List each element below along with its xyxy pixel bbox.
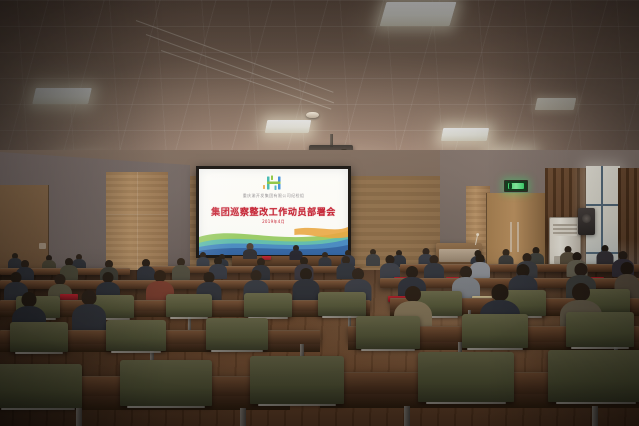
desk-leg xyxy=(592,406,598,426)
audience-chair[interactable] xyxy=(356,316,420,349)
audience-member xyxy=(292,268,319,301)
slide-title: 集团巡察整改工作动员部署会 xyxy=(211,205,336,218)
audience-chair-foreground[interactable] xyxy=(548,350,639,402)
projection-screen: 重庆渝开发集团有限公司纪检组 集团巡察整改工作动员部署会 2019年4月 xyxy=(196,166,351,258)
presidium-speaker xyxy=(243,243,257,259)
person-body xyxy=(424,263,444,279)
audience-member xyxy=(596,245,613,265)
door-push-bar[interactable] xyxy=(510,222,512,252)
person-body xyxy=(366,254,380,266)
audience-chair-foreground[interactable] xyxy=(250,356,344,404)
desk-leg xyxy=(404,406,410,426)
speaker-cone-icon xyxy=(582,214,591,223)
audience-chair-foreground[interactable] xyxy=(0,364,82,408)
person-body xyxy=(72,304,106,332)
ceiling-shading xyxy=(0,0,639,165)
person-body xyxy=(596,251,613,265)
audience-chair[interactable] xyxy=(462,314,528,348)
person-head xyxy=(492,284,509,301)
conference-room-photo: 重庆渝开发集团有限公司纪检组 集团巡察整改工作动员部署会 2019年4月 xyxy=(0,0,639,426)
smoke-detector-icon xyxy=(306,112,319,118)
audience-chair[interactable] xyxy=(10,322,68,352)
wall-speaker xyxy=(578,208,595,235)
audience-chair-foreground[interactable] xyxy=(120,360,212,406)
running-man-icon xyxy=(509,183,512,189)
presentation-slide: 重庆渝开发集团有限公司纪检组 集团巡察整改工作动员部署会 2019年4月 xyxy=(199,169,348,255)
suspended-tile-ceiling xyxy=(0,0,639,165)
light-switch-plate[interactable] xyxy=(39,243,46,249)
audience-member xyxy=(72,290,106,332)
audience-chair[interactable] xyxy=(166,294,212,317)
audience-chair[interactable] xyxy=(566,312,634,347)
audience-chair[interactable] xyxy=(206,318,268,350)
slide-organization-name: 重庆渝开发集团有限公司纪检组 xyxy=(243,193,305,199)
audience-member xyxy=(380,255,400,279)
door-push-bar[interactable] xyxy=(517,222,519,252)
person-body xyxy=(292,279,319,301)
audience-chair[interactable] xyxy=(318,292,366,316)
audience-chair[interactable] xyxy=(106,320,166,351)
person-body xyxy=(172,265,190,280)
person-head xyxy=(572,283,590,301)
window-transom xyxy=(586,204,620,206)
audience-chair[interactable] xyxy=(244,293,292,317)
audience-member xyxy=(366,249,380,266)
desk-leg xyxy=(240,408,246,426)
slide-ribbon-graphic xyxy=(199,221,348,255)
teal-h-logo xyxy=(259,175,289,192)
emergency-exit-sign xyxy=(504,180,528,192)
audience-member xyxy=(172,258,190,280)
person-head xyxy=(22,292,37,307)
desk-leg xyxy=(76,408,82,426)
person-head xyxy=(82,290,97,305)
audience-member xyxy=(424,255,444,279)
audience-chair-foreground[interactable] xyxy=(418,352,514,402)
ac-vent-grille xyxy=(553,224,577,236)
person-head xyxy=(405,286,421,302)
